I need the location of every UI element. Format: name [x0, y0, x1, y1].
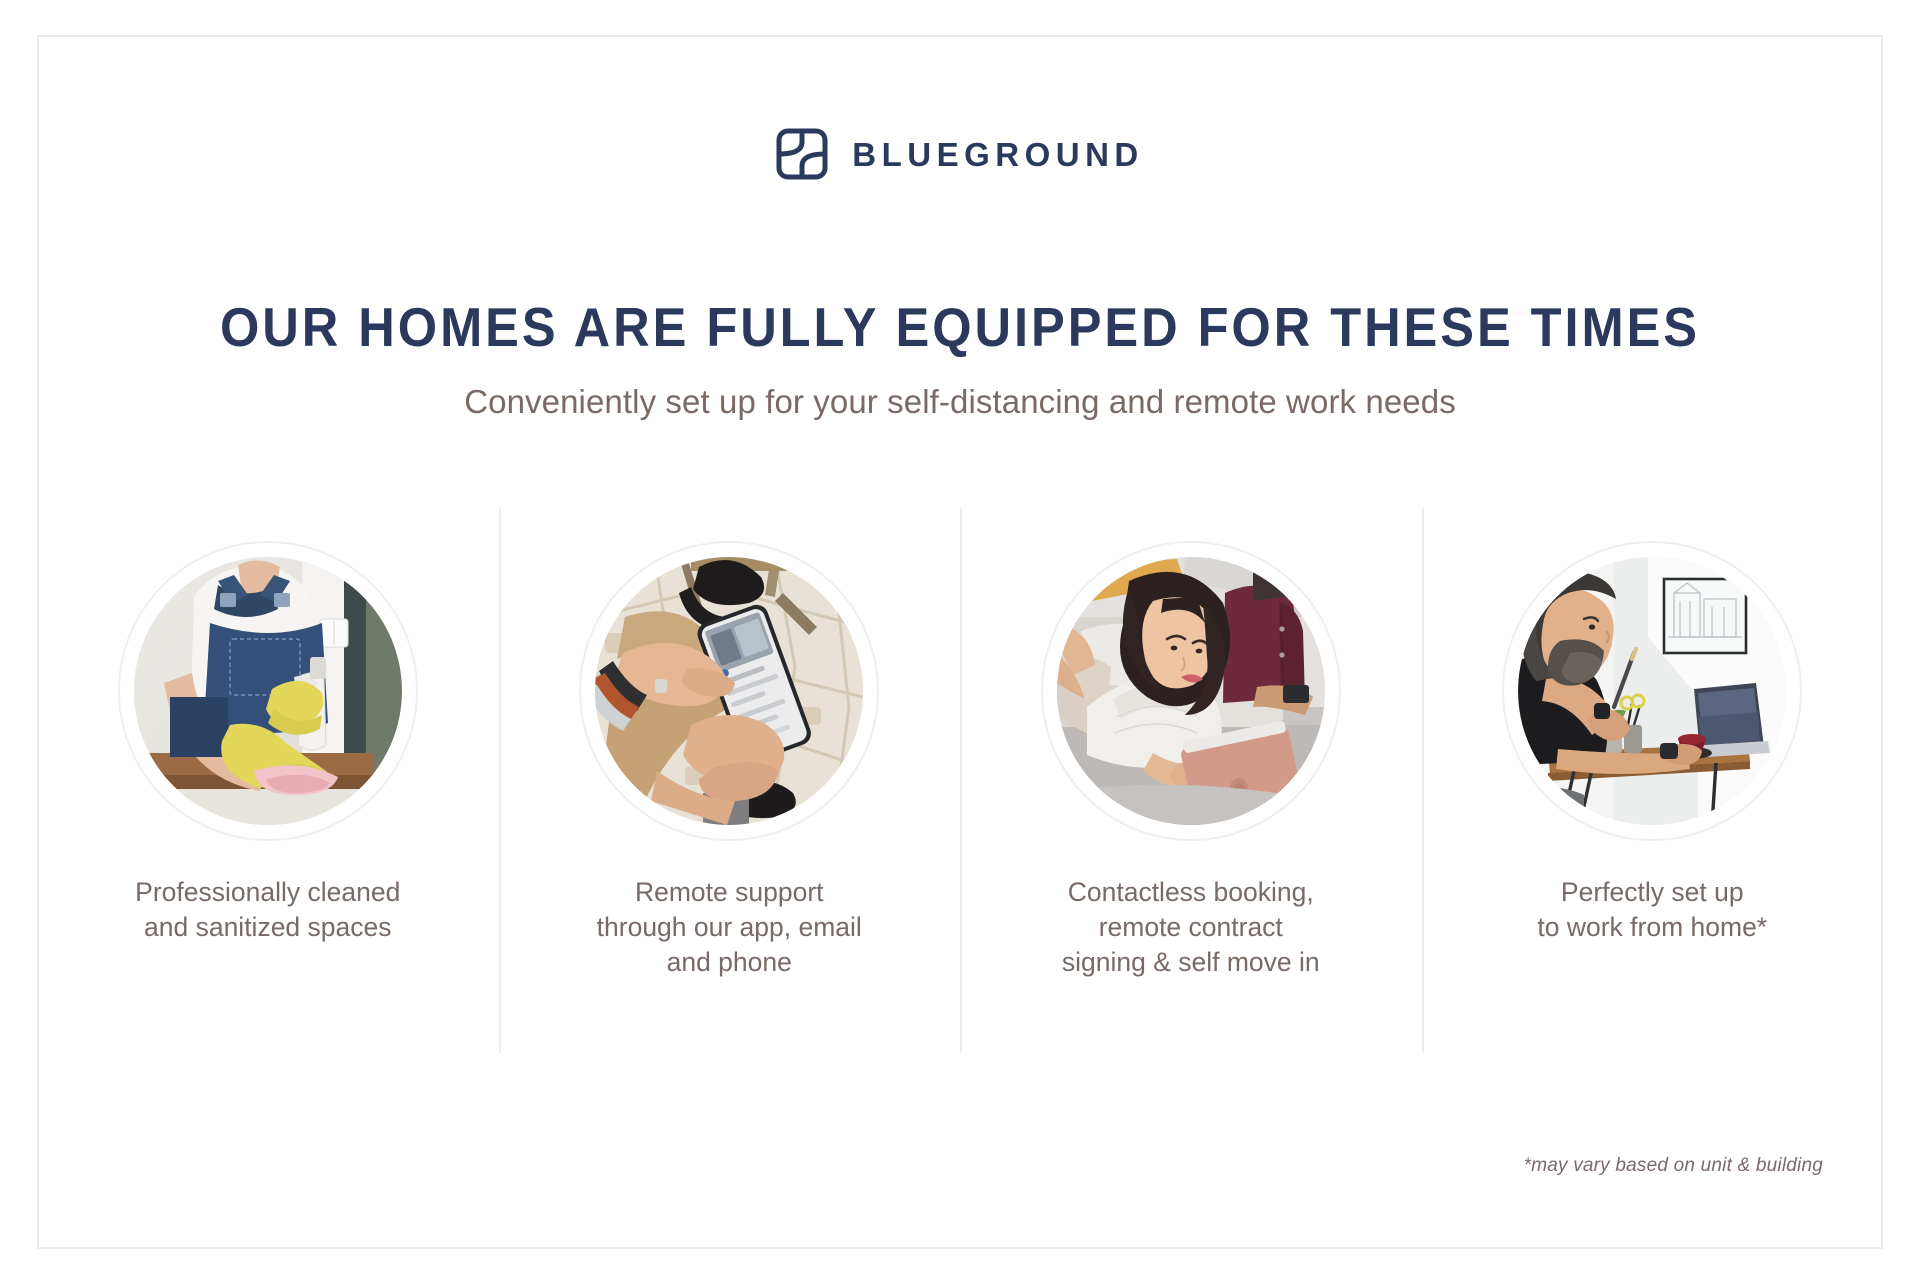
photo-man-laptop [1518, 557, 1786, 825]
photo-woman-tablet [1057, 557, 1325, 825]
blueground-logo-icon [776, 128, 828, 180]
feature-caption: Professionally cleaned and sanitized spa… [135, 875, 400, 945]
feature-image-ring-3 [1041, 541, 1341, 841]
photo-cleaner [134, 557, 402, 825]
brand-wordmark: BLUEGROUND [852, 138, 1144, 171]
photo-phone-app [595, 557, 863, 825]
feature-item-remote-support: Remote support through our app, email an… [499, 508, 961, 1053]
feature-image-ring-1 [118, 541, 418, 841]
page-title: OUR HOMES ARE FULLY EQUIPPED FOR THESE T… [77, 295, 1843, 359]
feature-image-ring-2 [579, 541, 879, 841]
page-subtitle: Conveniently set up for your self-distan… [0, 383, 1920, 421]
feature-item-work-from-home: Perfectly set up to work from home* [1422, 508, 1884, 1053]
feature-item-contactless-booking: Contactless booking, remote contract sig… [960, 508, 1422, 1053]
footnote-disclaimer: *may vary based on unit & building [1524, 1155, 1823, 1177]
feature-image-ring-4 [1502, 541, 1802, 841]
feature-list: Professionally cleaned and sanitized spa… [37, 508, 1883, 1053]
feature-item-cleaning: Professionally cleaned and sanitized spa… [37, 508, 499, 1053]
feature-caption: Contactless booking, remote contract sig… [1062, 875, 1320, 981]
poster: BLUEGROUND OUR HOMES ARE FULLY EQUIPPED … [0, 0, 1920, 1280]
brand-lockup: BLUEGROUND [0, 128, 1920, 180]
feature-caption: Perfectly set up to work from home* [1537, 875, 1767, 945]
feature-caption: Remote support through our app, email an… [597, 875, 862, 981]
